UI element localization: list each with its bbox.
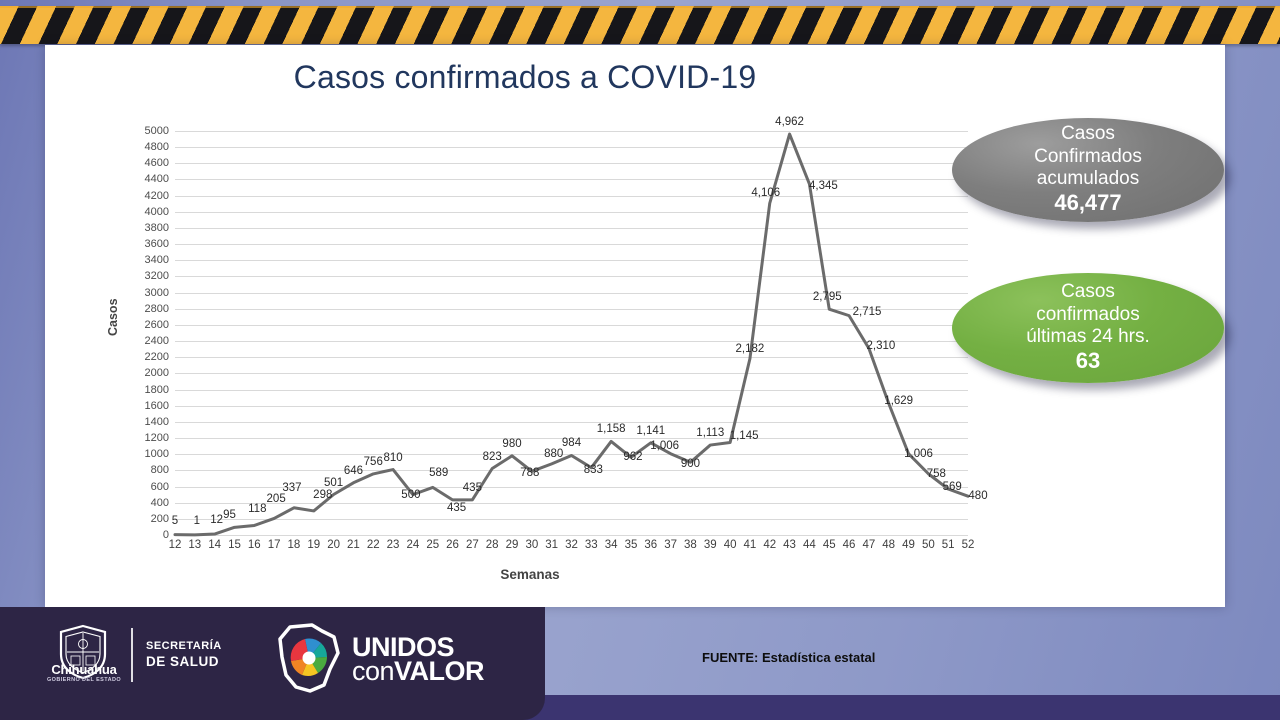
data-point-label: 1,006	[904, 448, 933, 460]
x-tick-label: 33	[585, 539, 598, 551]
campaign-line2-bold: VALOR	[394, 656, 484, 686]
x-tick-label: 42	[763, 539, 776, 551]
source-note: FUENTE: Estadística estatal	[702, 650, 875, 665]
gridline	[175, 535, 968, 536]
callout-accumulated-line2: Confirmados	[1034, 146, 1142, 168]
state-name: Chihuahua	[40, 662, 128, 677]
campaign-line2-light: con	[352, 656, 394, 686]
data-point-label: 480	[968, 490, 987, 502]
callout-24h-line1: Casos	[1026, 281, 1150, 303]
y-tick-label: 4600	[123, 158, 169, 168]
x-tick-label: 34	[605, 539, 618, 551]
x-tick-label: 14	[208, 539, 221, 551]
y-tick-label: 400	[123, 498, 169, 508]
x-tick-label: 44	[803, 539, 816, 551]
y-tick-label: 3800	[123, 223, 169, 233]
data-point-label: 298	[313, 489, 332, 501]
x-tick-label: 32	[565, 539, 578, 551]
x-tick-label: 46	[843, 539, 856, 551]
data-point-label: 900	[681, 458, 700, 470]
x-tick-label: 37	[664, 539, 677, 551]
y-tick-label: 5000	[123, 126, 169, 136]
page-title: Casos confirmados a COVID-19	[90, 59, 960, 96]
callout-confirmed-accumulated: Casos Confirmados acumulados 46,477	[952, 118, 1224, 222]
hazard-stripe-banner	[0, 6, 1280, 44]
x-tick-label: 48	[882, 539, 895, 551]
x-tick-label: 49	[902, 539, 915, 551]
secretary-line2: DE SALUD	[146, 654, 219, 669]
data-point-label: 435	[447, 502, 466, 514]
data-point-label: 758	[927, 468, 946, 480]
x-tick-label: 51	[942, 539, 955, 551]
x-tick-label: 43	[783, 539, 796, 551]
data-point-label: 2,310	[866, 340, 895, 352]
data-point-label: 4,345	[809, 180, 838, 192]
y-tick-label: 1000	[123, 449, 169, 459]
x-tick-label: 24	[406, 539, 419, 551]
chart-container: Casos 5000480046004400420040003800360034…	[90, 131, 970, 591]
y-tick-label: 600	[123, 482, 169, 492]
x-axis-title: Semanas	[90, 567, 970, 582]
data-point-label: 1,113	[696, 427, 724, 439]
x-tick-label: 38	[684, 539, 697, 551]
y-tick-label: 1600	[123, 401, 169, 411]
data-point-label: 337	[282, 482, 301, 494]
y-tick-label: 200	[123, 514, 169, 524]
data-point-label: 810	[383, 452, 402, 464]
x-tick-label: 21	[347, 539, 360, 551]
x-tick-label: 29	[506, 539, 519, 551]
campaign-line2: conVALOR	[352, 656, 484, 687]
y-axis-title: Casos	[106, 298, 120, 336]
state-subtitle: GOBIERNO DEL ESTADO	[40, 677, 128, 683]
y-tick-label: 3200	[123, 271, 169, 281]
data-point-label: 501	[324, 477, 343, 489]
y-tick-label: 800	[123, 465, 169, 475]
x-tick-label: 36	[644, 539, 657, 551]
y-tick-label: 1800	[123, 385, 169, 395]
data-point-label: 589	[429, 467, 448, 479]
y-tick-label: 2200	[123, 352, 169, 362]
data-point-label: 833	[584, 464, 603, 476]
data-point-label: 4,106	[751, 187, 780, 199]
y-tick-label: 4200	[123, 191, 169, 201]
data-point-label: 4,962	[775, 116, 804, 128]
callout-accumulated-line3: acumulados	[1034, 168, 1142, 190]
x-tick-label: 27	[466, 539, 479, 551]
data-point-label: 205	[267, 493, 286, 505]
x-tick-label: 12	[169, 539, 182, 551]
data-point-label: 1	[194, 515, 200, 527]
data-point-label: 646	[344, 465, 363, 477]
y-tick-label: 4400	[123, 174, 169, 184]
x-tick-label: 41	[744, 539, 757, 551]
data-point-label: 5	[172, 515, 178, 527]
x-tick-label: 22	[367, 539, 380, 551]
x-tick-label: 47	[862, 539, 875, 551]
y-tick-label: 4000	[123, 207, 169, 217]
data-point-label: 2,795	[813, 291, 842, 303]
callout-confirmed-last-24h: Casos confirmados últimas 24 hrs. 63	[952, 273, 1224, 383]
banner-top-edge	[0, 6, 1280, 8]
y-tick-label: 2400	[123, 336, 169, 346]
y-tick-label: 2600	[123, 320, 169, 330]
plot-area: 5112951182053372985016467568105005894354…	[175, 131, 968, 535]
data-point-label: 1,629	[884, 395, 913, 407]
data-point-label: 984	[562, 437, 581, 449]
data-point-label: 1,145	[730, 430, 759, 442]
x-tick-label: 35	[625, 539, 638, 551]
x-tick-label: 25	[426, 539, 439, 551]
y-tick-label: 4800	[123, 142, 169, 152]
x-tick-label: 52	[962, 539, 975, 551]
x-tick-label: 15	[228, 539, 241, 551]
data-point-label: 823	[483, 451, 502, 463]
y-tick-label: 1200	[123, 433, 169, 443]
y-tick-label: 1400	[123, 417, 169, 427]
y-tick-label: 2000	[123, 368, 169, 378]
x-tick-label: 28	[486, 539, 499, 551]
secretary-line1: SECRETARÍA	[146, 640, 222, 652]
data-point-label: 95	[223, 509, 236, 521]
line-series	[175, 131, 968, 535]
callout-24h-line2: confirmados	[1026, 304, 1150, 326]
x-tick-label: 40	[724, 539, 737, 551]
data-point-label: 2,182	[736, 343, 765, 355]
callout-24h-line3: últimas 24 hrs.	[1026, 326, 1150, 348]
y-axis-ticks: 5000480046004400420040003800360034003200…	[123, 131, 169, 535]
data-point-label: 880	[544, 448, 563, 460]
callout-accumulated-line1: Casos	[1034, 123, 1142, 145]
data-point-label: 500	[401, 489, 420, 501]
data-point-label: 962	[623, 451, 642, 463]
x-tick-label: 30	[525, 539, 538, 551]
data-point-label: 569	[943, 481, 962, 493]
x-tick-label: 19	[307, 539, 320, 551]
callout-accumulated-value: 46,477	[1054, 190, 1121, 215]
y-tick-label: 3400	[123, 255, 169, 265]
x-tick-label: 13	[188, 539, 201, 551]
data-point-label: 118	[248, 503, 266, 515]
data-point-label: 1,141	[636, 425, 665, 437]
x-tick-label: 31	[545, 539, 558, 551]
data-point-label: 435	[463, 482, 482, 494]
x-tick-label: 17	[268, 539, 281, 551]
y-tick-label: 0	[123, 530, 169, 540]
data-point-label: 756	[364, 456, 383, 468]
x-axis-ticks: 1213141516171819202122232425262728293031…	[175, 539, 968, 559]
x-tick-label: 18	[288, 539, 301, 551]
unidos-con-valor-logo-icon	[272, 623, 347, 695]
y-tick-label: 2800	[123, 304, 169, 314]
data-point-label: 12	[210, 514, 223, 526]
data-point-label: 980	[502, 438, 521, 450]
x-tick-label: 16	[248, 539, 261, 551]
x-tick-label: 26	[446, 539, 459, 551]
data-point-label: 788	[520, 467, 539, 479]
x-tick-label: 20	[327, 539, 340, 551]
y-tick-label: 3600	[123, 239, 169, 249]
x-tick-label: 23	[387, 539, 400, 551]
data-point-label: 1,158	[597, 423, 626, 435]
x-tick-label: 50	[922, 539, 935, 551]
data-point-label: 2,715	[853, 306, 882, 318]
x-tick-label: 39	[704, 539, 717, 551]
y-tick-label: 3000	[123, 288, 169, 298]
callout-24h-value: 63	[1076, 348, 1100, 373]
data-point-label: 1,006	[650, 440, 679, 452]
footer-divider	[131, 628, 133, 682]
x-tick-label: 45	[823, 539, 836, 551]
